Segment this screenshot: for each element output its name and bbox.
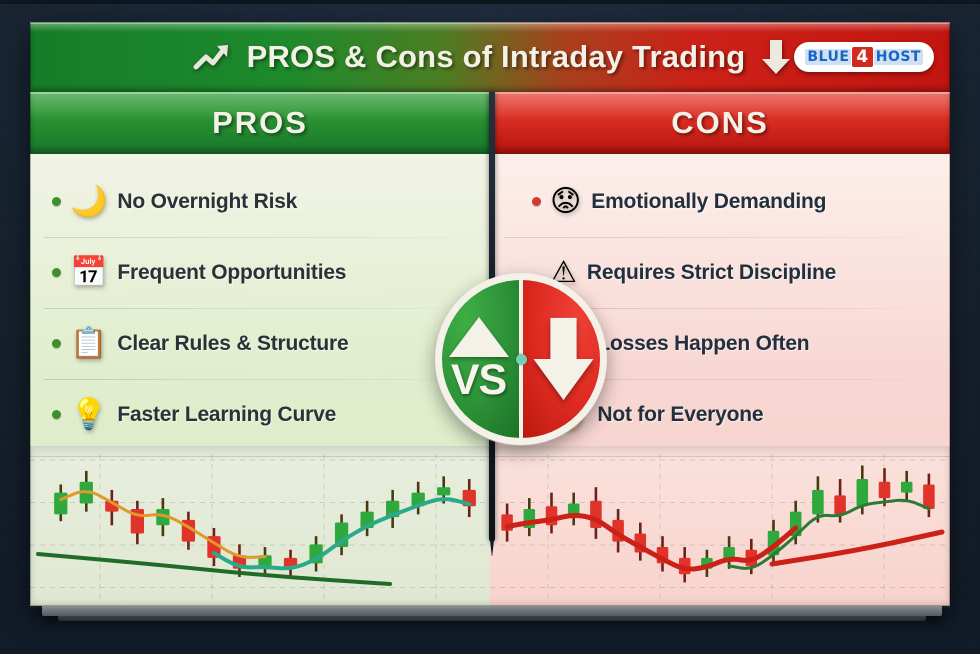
page-title: PROS & Cons of Intraday Trading	[247, 39, 746, 75]
calendar-clock-icon: 📅	[70, 258, 107, 288]
pros-heading-label: PROS	[212, 105, 308, 141]
cons-heading-label: CONS	[671, 105, 769, 141]
pros-list: 🌙 No Overnight Risk 📅 Frequent Opportuni…	[30, 154, 490, 450]
vs-label: VS	[451, 359, 506, 402]
pros-heading: PROS	[30, 92, 490, 154]
bullet-icon	[52, 268, 61, 277]
vs-badge: VS	[435, 273, 607, 445]
brand-part-one: BLUE	[805, 49, 851, 65]
vs-left-half: VS	[442, 280, 521, 438]
infographic-card: PROS & Cons of Intraday Trading BLUE 4 H…	[30, 22, 950, 606]
pros-item-label: Clear Rules & Structure	[117, 332, 348, 356]
chart-increasing-icon	[193, 40, 233, 74]
triangle-up-icon	[449, 317, 509, 357]
list-item[interactable]: 💡 Faster Learning Curve	[30, 379, 490, 450]
title-bar: PROS & Cons of Intraday Trading BLUE 4 H…	[30, 22, 950, 92]
vs-pivot-dot	[516, 354, 527, 365]
cons-item-label: Not for Everyone	[597, 403, 763, 427]
cons-item-label: Emotionally Demanding	[591, 190, 826, 214]
crescent-moon-icon: 🌙	[70, 187, 107, 217]
cons-heading: CONS	[490, 92, 950, 154]
brand-logo[interactable]: BLUE 4 HOST	[794, 42, 934, 72]
arrow-down-icon	[527, 311, 600, 407]
clipboard-check-icon: 📋	[70, 329, 107, 359]
list-item[interactable]: 🌙 No Overnight Risk	[30, 166, 490, 237]
brand-part-two: HOST	[874, 49, 923, 65]
light-bulb-icon: 💡	[70, 400, 107, 430]
list-item[interactable]: 📋 Clear Rules & Structure	[30, 308, 490, 379]
card-base-shadow	[58, 616, 926, 621]
cons-item-label: Losses Happen Often	[597, 332, 809, 356]
worried-face-icon: 😟	[550, 187, 581, 217]
top-edge-strip	[0, 0, 980, 4]
down-arrow-icon	[759, 37, 793, 77]
bullet-icon	[52, 410, 61, 419]
pros-item-label: Frequent Opportunities	[117, 261, 346, 285]
list-item[interactable]: 📅 Frequent Opportunities	[30, 237, 490, 308]
brand-part-number: 4	[852, 47, 872, 67]
list-item[interactable]: 😟 Emotionally Demanding	[490, 166, 950, 237]
bullet-icon	[532, 197, 541, 206]
bullet-icon	[52, 197, 61, 206]
cons-item-label: Requires Strict Discipline	[587, 261, 836, 285]
bullet-icon	[52, 339, 61, 348]
pros-item-label: Faster Learning Curve	[117, 403, 336, 427]
pros-item-label: No Overnight Risk	[117, 190, 297, 214]
